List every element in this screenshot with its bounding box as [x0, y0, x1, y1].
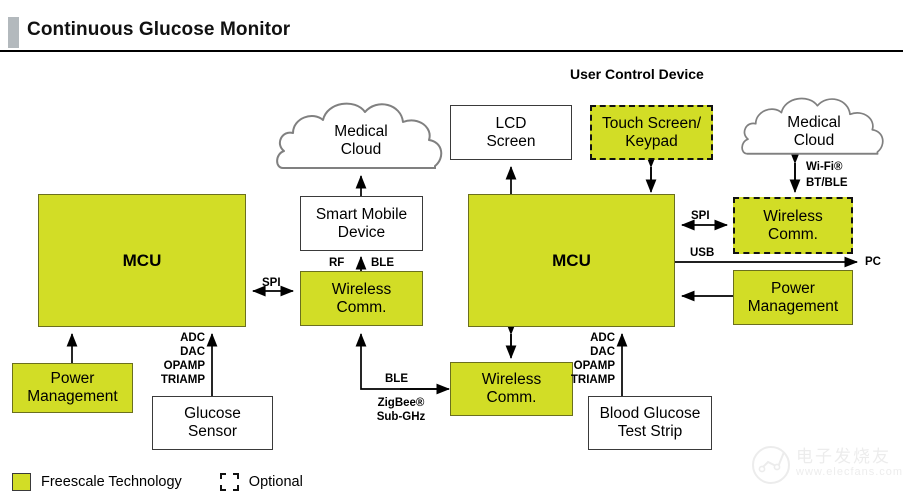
- rf-label: RF: [329, 256, 344, 270]
- right-sensor-bus-label: ADC DAC OPAMP TRIAMP: [550, 331, 615, 387]
- left-power-management-line2: Management: [27, 388, 117, 406]
- right-bottom-wireless-comm-label: Wireless Comm.: [482, 371, 541, 407]
- header-accent-bar: [8, 17, 19, 48]
- test-strip-line1: Blood Glucose: [600, 405, 701, 423]
- touch-screen-line2: Keypad: [602, 133, 701, 151]
- left-medical-cloud-line1: Medical: [334, 123, 387, 140]
- right-bus-opamp: OPAMP: [574, 360, 615, 372]
- left-bus-opamp: OPAMP: [164, 360, 205, 372]
- btble-label: BT/BLE: [806, 176, 848, 190]
- touch-screen-keypad-label: Touch Screen/ Keypad: [602, 115, 701, 151]
- left-wireless-comm-line1: Wireless: [332, 281, 391, 299]
- smart-mobile-device-label: Smart Mobile Device: [316, 206, 407, 242]
- left-power-management-block[interactable]: Power Management: [12, 363, 133, 413]
- right-power-management-line2: Management: [748, 298, 838, 316]
- watermark-url: www.elecfans.com: [796, 466, 903, 478]
- right-bottom-wireless-line2: Comm.: [482, 389, 541, 407]
- right-wireless-comm-label: Wireless Comm.: [763, 208, 822, 244]
- right-wireless-comm-line2: Comm.: [763, 226, 822, 244]
- right-bottom-wireless-line1: Wireless: [482, 371, 541, 389]
- right-medical-cloud-line2: Cloud: [794, 132, 835, 149]
- right-medical-cloud: Medical Cloud: [726, 92, 902, 164]
- smart-mobile-device-line2: Device: [316, 224, 407, 242]
- right-bus-triamp: TRIAMP: [571, 374, 615, 386]
- link-subghz: Sub-GHz: [377, 411, 426, 423]
- blood-glucose-test-strip-block[interactable]: Blood Glucose Test Strip: [588, 396, 712, 450]
- legend-optional-label: Optional: [249, 474, 303, 490]
- glucose-sensor-label: Glucose Sensor: [184, 405, 241, 441]
- left-mcu-block[interactable]: MCU: [38, 194, 246, 327]
- lcd-screen-line1: LCD: [486, 115, 535, 133]
- touch-screen-keypad-block[interactable]: Touch Screen/ Keypad: [590, 105, 713, 160]
- left-sensor-bus-label: ADC DAC OPAMP TRIAMP: [140, 331, 205, 387]
- watermark-text: 电子发烧友: [796, 442, 891, 467]
- smart-mobile-device-block[interactable]: Smart Mobile Device: [300, 196, 423, 251]
- left-bus-dac: DAC: [180, 346, 205, 358]
- left-power-management-line1: Power: [27, 370, 117, 388]
- glucose-sensor-line1: Glucose: [184, 405, 241, 423]
- left-wireless-comm-block[interactable]: Wireless Comm.: [300, 271, 423, 326]
- left-medical-cloud: Medical Cloud: [273, 96, 449, 180]
- legend-freescale-label: Freescale Technology: [41, 474, 182, 490]
- glucose-sensor-block[interactable]: Glucose Sensor: [152, 396, 273, 450]
- blood-glucose-test-strip-label: Blood Glucose Test Strip: [600, 405, 701, 441]
- lcd-screen-label: LCD Screen: [486, 115, 535, 151]
- link-zigbee-subghz-label: ZigBee® Sub-GHz: [358, 396, 444, 424]
- right-bus-dac: DAC: [590, 346, 615, 358]
- left-wireless-comm-label: Wireless Comm.: [332, 281, 391, 317]
- wifi-label: Wi-Fi®: [806, 160, 842, 174]
- watermark: 电子发烧友 www.elecfans.com: [748, 440, 898, 495]
- ble-label: BLE: [371, 256, 394, 270]
- legend: Freescale Technology Optional: [12, 470, 303, 494]
- lcd-screen-line2: Screen: [486, 133, 535, 151]
- left-medical-cloud-line2: Cloud: [341, 141, 382, 158]
- left-bus-adc: ADC: [180, 332, 205, 344]
- pc-label: PC: [865, 255, 881, 269]
- right-wireless-comm-line1: Wireless: [763, 208, 822, 226]
- touch-screen-line1: Touch Screen/: [602, 115, 701, 133]
- link-zigbee: ZigBee®: [378, 397, 425, 409]
- right-mcu-block[interactable]: MCU: [468, 194, 675, 327]
- left-wireless-comm-line2: Comm.: [332, 299, 391, 317]
- link-ble-label: BLE: [385, 372, 408, 386]
- legend-freescale-swatch: [12, 473, 31, 491]
- legend-optional-swatch: [220, 473, 239, 491]
- glucose-sensor-line2: Sensor: [184, 423, 241, 441]
- left-mcu-label: MCU: [123, 251, 162, 271]
- right-mcu-label: MCU: [552, 251, 591, 271]
- page-title: Continuous Glucose Monitor: [27, 19, 290, 41]
- section-title-user-control-device: User Control Device: [570, 66, 704, 82]
- right-bus-adc: ADC: [590, 332, 615, 344]
- right-spi-label: SPI: [691, 209, 710, 223]
- right-power-management-label: Power Management: [748, 280, 838, 316]
- right-power-management-line1: Power: [748, 280, 838, 298]
- left-bus-triamp: TRIAMP: [161, 374, 205, 386]
- right-wireless-comm-block[interactable]: Wireless Comm.: [733, 197, 853, 254]
- test-strip-line2: Test Strip: [600, 423, 701, 441]
- elecfans-logo-icon: [748, 440, 794, 486]
- lcd-screen-block[interactable]: LCD Screen: [450, 105, 572, 160]
- right-medical-cloud-line1: Medical: [787, 114, 840, 131]
- diagram-canvas: Continuous Glucose Monitor User Control …: [0, 0, 903, 501]
- usb-label: USB: [690, 246, 714, 260]
- smart-mobile-device-line1: Smart Mobile: [316, 206, 407, 224]
- left-spi-label: SPI: [262, 276, 281, 290]
- left-power-management-label: Power Management: [27, 370, 117, 406]
- right-power-management-block[interactable]: Power Management: [733, 270, 853, 325]
